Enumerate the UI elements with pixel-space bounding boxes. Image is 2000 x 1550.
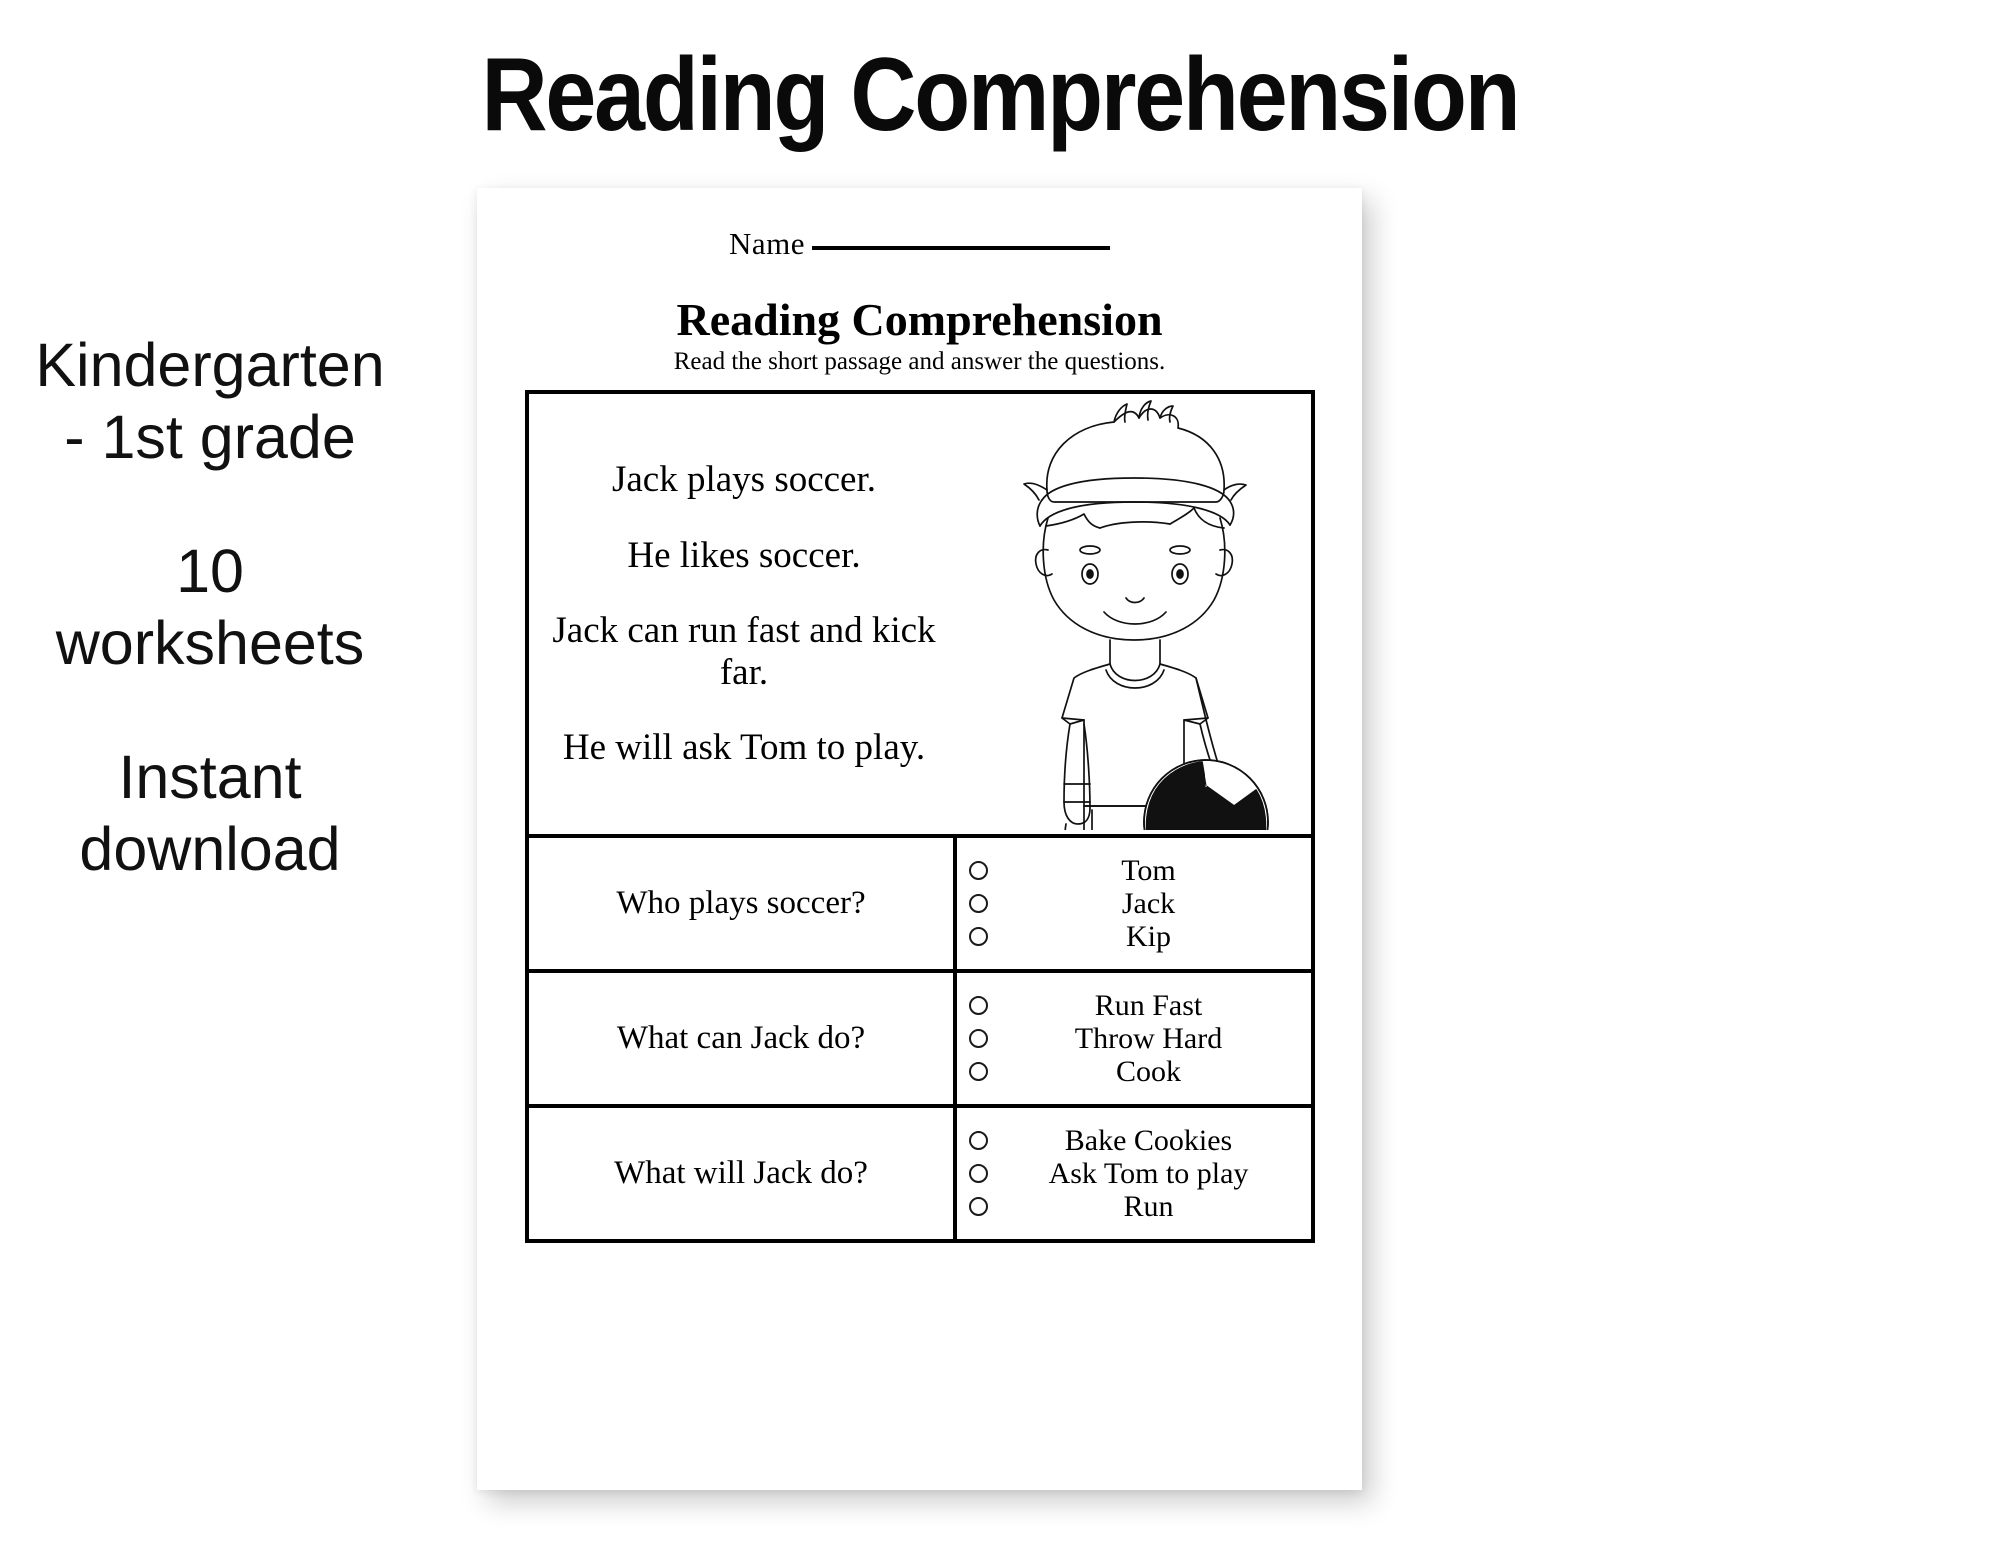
option-row[interactable]: Ask Tom to play (969, 1157, 1305, 1190)
radio-circle-icon[interactable] (969, 894, 988, 913)
promo-block-delivery: Instant download (0, 742, 420, 886)
option-label: Ask Tom to play (992, 1159, 1305, 1189)
option-row[interactable]: Run (969, 1190, 1305, 1223)
option-label: Run Fast (992, 991, 1305, 1021)
question-options-cell: Run Fast Throw Hard Cook (957, 973, 1311, 1104)
option-label: Jack (992, 889, 1305, 919)
promo-column: Kindergarten - 1st grade 10 worksheets I… (0, 330, 420, 886)
question-prompt: Who plays soccer? (616, 885, 865, 922)
promo-line: worksheets (0, 608, 420, 680)
option-row[interactable]: Cook (969, 1055, 1305, 1088)
option-label: Cook (992, 1057, 1305, 1087)
option-row[interactable]: Kip (969, 920, 1305, 953)
worksheet-paper: Name Reading Comprehension Read the shor… (477, 188, 1362, 1490)
option-label: Bake Cookies (992, 1126, 1305, 1156)
radio-circle-icon[interactable] (969, 1029, 988, 1048)
option-label: Tom (992, 856, 1305, 886)
question-row: Who plays soccer? Tom Jack Kip (529, 834, 1311, 969)
promo-line: Kindergarten (0, 330, 420, 402)
radio-circle-icon[interactable] (969, 927, 988, 946)
question-prompt-cell: What will Jack do? (529, 1108, 957, 1239)
promo-block-grade-level: Kindergarten - 1st grade (0, 330, 420, 474)
passage-row: Jack plays soccer. He likes soccer. Jack… (529, 394, 1311, 834)
promo-line: Instant (0, 742, 420, 814)
promo-block-worksheet-count: 10 worksheets (0, 536, 420, 680)
name-label: Name (729, 226, 805, 261)
option-row[interactable]: Run Fast (969, 989, 1305, 1022)
question-row: What can Jack do? Run Fast Throw Hard Co… (529, 969, 1311, 1104)
passage-cell: Jack plays soccer. He likes soccer. Jack… (529, 394, 957, 834)
question-prompt-cell: What can Jack do? (529, 973, 957, 1104)
option-row[interactable]: Bake Cookies (969, 1124, 1305, 1157)
promo-line: download (0, 814, 420, 886)
passage-line: He will ask Tom to play. (563, 727, 925, 768)
promo-line: 10 (0, 536, 420, 608)
radio-circle-icon[interactable] (969, 996, 988, 1015)
radio-circle-icon[interactable] (969, 861, 988, 880)
option-label: Throw Hard (992, 1024, 1305, 1054)
option-label: Kip (992, 922, 1305, 952)
question-options-cell: Tom Jack Kip (957, 838, 1311, 969)
question-prompt-cell: Who plays soccer? (529, 838, 957, 969)
option-row[interactable]: Tom (969, 854, 1305, 887)
option-row[interactable]: Jack (969, 887, 1305, 920)
page-title: Reading Comprehension (120, 36, 1880, 156)
option-row[interactable]: Throw Hard (969, 1022, 1305, 1055)
question-prompt: What can Jack do? (617, 1020, 865, 1057)
radio-circle-icon[interactable] (969, 1062, 988, 1081)
question-row: What will Jack do? Bake Cookies Ask Tom … (529, 1104, 1311, 1239)
worksheet-subtitle: Read the short passage and answer the qu… (477, 348, 1362, 376)
passage-line: Jack can run fast and kick far. (545, 610, 943, 693)
promo-line: - 1st grade (0, 402, 420, 474)
question-options-cell: Bake Cookies Ask Tom to play Run (957, 1108, 1311, 1239)
boy-with-soccer-ball-illustration (984, 398, 1284, 830)
radio-circle-icon[interactable] (969, 1164, 988, 1183)
option-label: Run (992, 1192, 1305, 1222)
passage-line: He likes soccer. (627, 535, 860, 576)
question-prompt: What will Jack do? (614, 1155, 868, 1192)
worksheet-table: Jack plays soccer. He likes soccer. Jack… (525, 390, 1315, 1243)
radio-circle-icon[interactable] (969, 1131, 988, 1150)
worksheet-title: Reading Comprehension (477, 293, 1362, 346)
passage-line: Jack plays soccer. (612, 459, 876, 500)
radio-circle-icon[interactable] (969, 1197, 988, 1216)
illustration-cell (957, 394, 1311, 834)
name-row: Name (477, 226, 1362, 262)
name-input-blank[interactable] (812, 245, 1110, 250)
